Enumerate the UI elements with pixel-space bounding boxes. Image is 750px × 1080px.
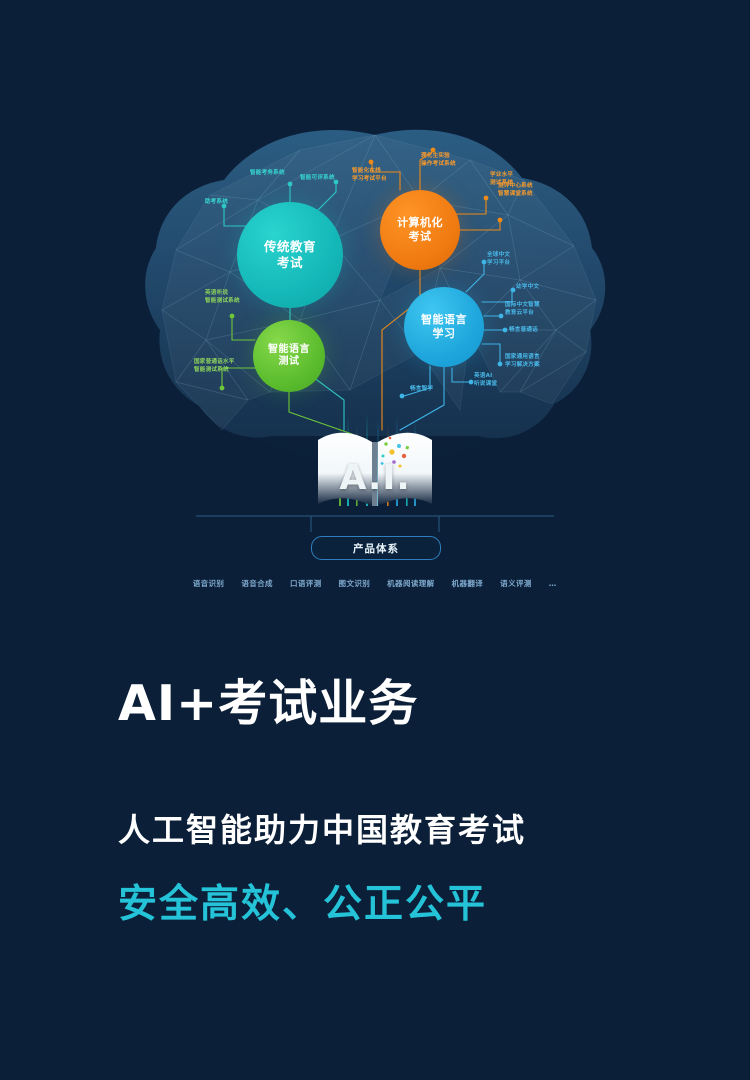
leaf-label-youxue-zhongwen: 幼学中文 <box>516 283 539 291</box>
leaf-label-guoji-zhongwen: 国际中文智慧 教育云平台 <box>505 301 540 317</box>
leaf-label-zhihui-ketang: 测评中心系统 智慧课堂系统 <box>498 182 533 198</box>
poster-root: 传统教育 考试 计算机化 考试 智能语言 学习 智能语言 测试 助考系统 智能考… <box>0 0 750 1080</box>
tag-item[interactable]: 口语评测 <box>290 578 322 589</box>
leaf-label-yingyu-ai: 英语AI 听说课堂 <box>474 372 497 388</box>
leaf-label-changyan-zhixue: 畅言智学 <box>410 385 433 393</box>
tag-item[interactable]: 语音识别 <box>193 578 225 589</box>
leaf-label-quanqiu-zhongwen: 全球中文 学习平台 <box>487 251 510 267</box>
tag-item[interactable]: 机器阅读理解 <box>387 578 434 589</box>
node-label-line1: 计算机化 <box>397 216 443 230</box>
node-label-line1: 智能语言 <box>268 344 310 357</box>
node-label-line2: 考试 <box>277 255 303 271</box>
node-label-line1: 传统教育 <box>264 239 316 255</box>
leaf-label-yingyu-tingshuo: 英语听说 智能测试系统 <box>205 289 240 305</box>
node-traditional-exam[interactable]: 传统教育 考试 <box>237 202 343 308</box>
tag-item-ellipsis: … <box>549 579 558 588</box>
product-system-pill[interactable]: 产品体系 <box>311 536 441 560</box>
tag-item[interactable]: 语义评测 <box>500 578 532 589</box>
node-label-line2: 考试 <box>409 230 432 244</box>
node-computerized-exam[interactable]: 计算机化 考试 <box>380 190 460 270</box>
brain-diagram: 传统教育 考试 计算机化 考试 智能语言 学习 智能语言 测试 助考系统 智能考… <box>0 0 750 640</box>
tag-item[interactable]: 图文识别 <box>339 578 371 589</box>
leaf-label-changyan-putonghua: 畅言普通话 <box>509 326 538 334</box>
tag-item[interactable]: 语音合成 <box>241 578 273 589</box>
node-smart-language-testing[interactable]: 智能语言 测试 <box>253 320 325 392</box>
headline-subtitle: 人工智能助力中国教育考试 <box>118 805 678 851</box>
page-title: AI+考试业务 <box>118 678 678 729</box>
leaf-label-zhuku: 助考系统 <box>186 198 228 206</box>
node-label-line2: 测试 <box>279 356 300 369</box>
capability-tag-list: 语音识别 语音合成 口语评测 图文识别 机器阅读理解 机器翻译 语义评测 … <box>0 578 750 589</box>
headline-block: AI+考试业务 人工智能助力中国教育考试 安全高效、公正公平 <box>118 678 678 929</box>
leaf-label-zhineng-kepingxi: 智能可评系统 <box>300 174 335 182</box>
ai-wordmark: A.I. <box>316 455 434 501</box>
tag-item[interactable]: 机器翻译 <box>452 578 484 589</box>
leaf-label-lihuasheng: 理化生实验 操作考试系统 <box>421 152 456 168</box>
leaf-label-zhinenghua-zaixian: 智能化在线 学习考试平台 <box>352 167 387 183</box>
leaf-label-tongyong-yuyan: 国家通用语言 学习解决方案 <box>505 353 540 369</box>
node-label-line1: 智能语言 <box>421 313 467 327</box>
headline-tagline: 安全高效、公正公平 <box>118 873 678 929</box>
node-smart-language-learning[interactable]: 智能语言 学习 <box>404 287 484 367</box>
leaf-label-zhineng-kaowu: 智能考务系统 <box>250 169 285 177</box>
leaf-label-putonghua-shuiping: 国家普通话水平 智能测试系统 <box>194 358 235 374</box>
node-label-line2: 学习 <box>433 327 456 341</box>
